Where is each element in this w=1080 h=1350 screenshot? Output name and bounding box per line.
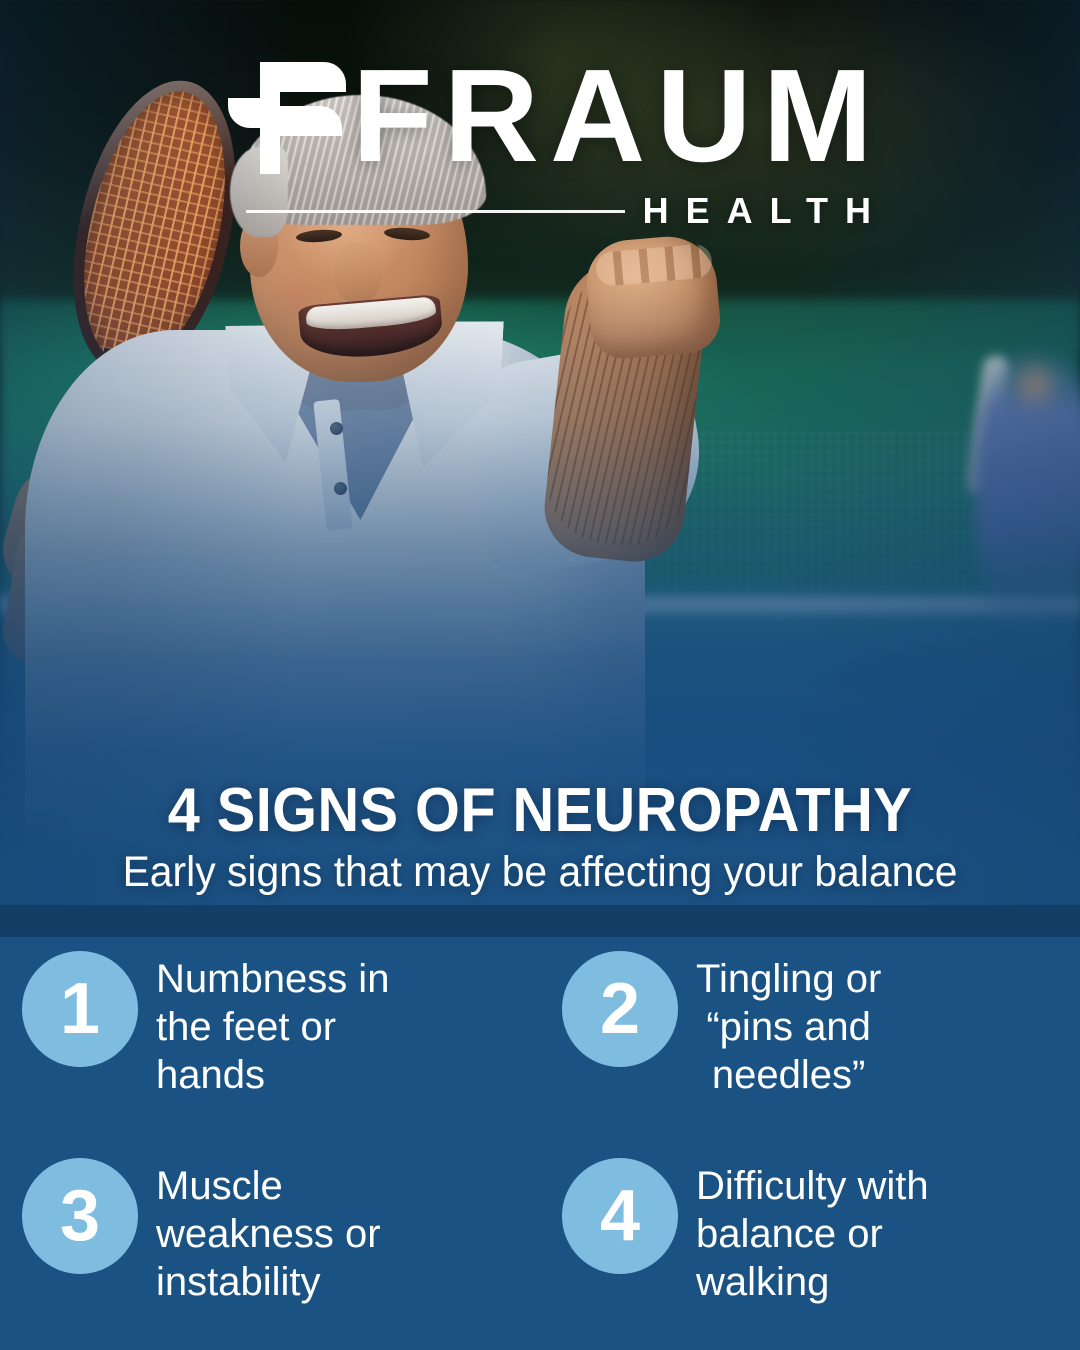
sign-text-2: Tingling or “pins and needles” xyxy=(696,951,881,1099)
sign-badge-2: 2 xyxy=(562,951,678,1067)
brand-wordmark: FRAUM xyxy=(352,62,884,170)
sign-number-4: 4 xyxy=(600,1180,640,1252)
sign-item-1: 1 Numbness in the feet or hands xyxy=(0,937,540,1144)
sign-badge-4: 4 xyxy=(562,1158,678,1274)
sign-text-3: Muscle weakness or instability xyxy=(156,1158,381,1306)
page-subtitle: Early signs that may be affecting your b… xyxy=(27,848,1053,896)
sign-text-4: Difficulty with balance or walking xyxy=(696,1158,929,1306)
logo-divider-rule xyxy=(246,210,625,213)
fraum-f-mark-icon xyxy=(228,62,346,174)
brand-subword: HEALTH xyxy=(643,190,888,232)
sign-badge-3: 3 xyxy=(22,1158,138,1274)
brand-logo: FRAUM HEALTH xyxy=(228,62,888,247)
page-title: 4 SIGNS OF NEUROPATHY xyxy=(38,778,1042,844)
signs-grid: 1 Numbness in the feet or hands 2 Tingli… xyxy=(0,937,1080,1350)
sign-number-3: 3 xyxy=(60,1180,100,1252)
sign-number-2: 2 xyxy=(600,973,640,1045)
sign-text-1: Numbness in the feet or hands xyxy=(156,951,389,1099)
sign-badge-1: 1 xyxy=(22,951,138,1067)
headline-block: 4 SIGNS OF NEUROPATHY Early signs that m… xyxy=(0,778,1080,896)
panel-top-band xyxy=(0,905,1080,937)
poster: FRAUM HEALTH 4 SIGNS OF NEUROPATHY Early… xyxy=(0,0,1080,1350)
sign-item-3: 3 Muscle weakness or instability xyxy=(0,1144,540,1350)
sign-number-1: 1 xyxy=(60,973,100,1045)
sign-item-2: 2 Tingling or “pins and needles” xyxy=(540,937,1080,1144)
sign-item-4: 4 Difficulty with balance or walking xyxy=(540,1144,1080,1350)
